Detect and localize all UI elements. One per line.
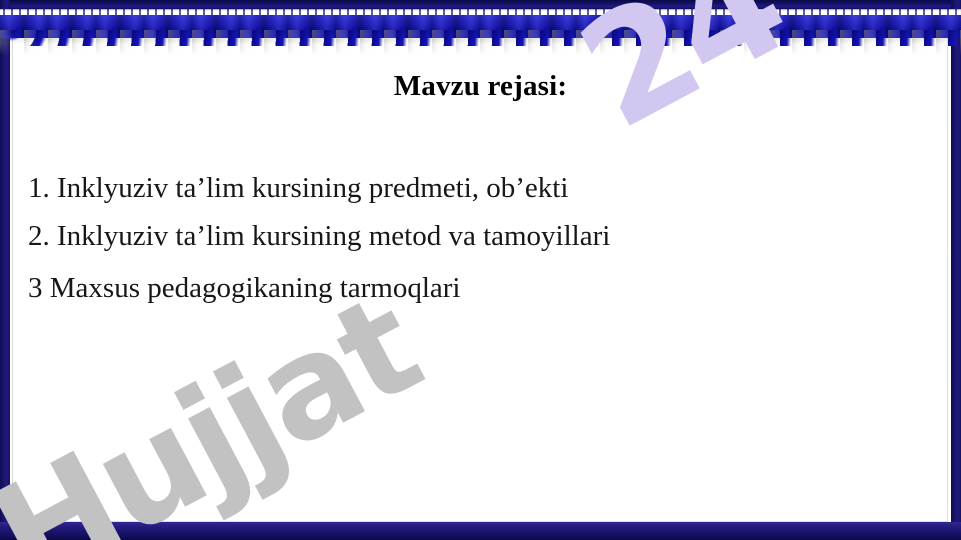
slide-content-area: Mavzu rejasi: 1. Inklyuziv ta’lim kursin… — [14, 46, 947, 522]
slide-border-right — [951, 0, 961, 540]
valance-shading — [0, 14, 961, 44]
valance-pearl-band — [0, 9, 961, 15]
list-item: 2. Inklyuziv ta’lim kursining metod va t… — [28, 212, 928, 260]
presentation-slide: 24 Hujjat Mavzu rejasi: 1. Inklyuziv ta’… — [0, 0, 961, 540]
list-item: 1. Inklyuziv ta’lim kursining predmeti, … — [28, 164, 928, 212]
list-item: 3 Maxsus pedagogikaning tarmoqlari — [28, 264, 928, 312]
topic-plan-list: 1. Inklyuziv ta’lim kursining predmeti, … — [28, 164, 928, 312]
slide-title: Mavzu rejasi: — [14, 70, 947, 103]
